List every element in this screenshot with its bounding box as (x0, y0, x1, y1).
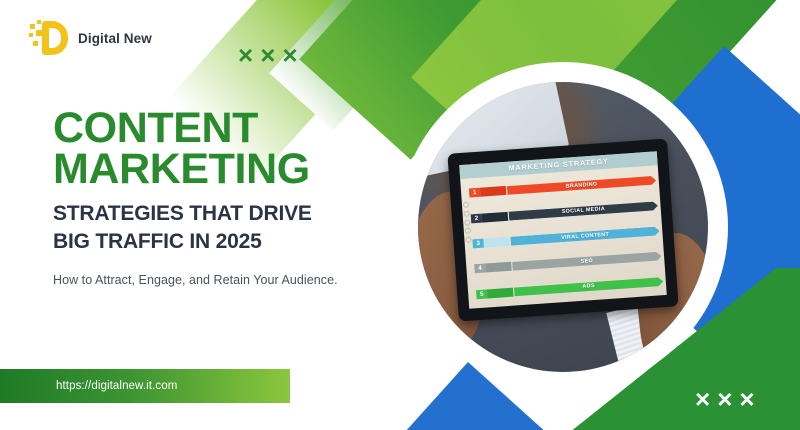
thumbs-up-icon (463, 210, 469, 216)
gear-icon (463, 202, 469, 208)
cross-icon: × (717, 386, 732, 412)
website-url-bar[interactable]: https://digitalnew.it.com (0, 369, 290, 403)
logo-pixel (33, 41, 38, 46)
strategy-number: 4 (474, 264, 486, 274)
page-title: CONTENT MARKETING (53, 108, 393, 191)
cross-icon: × (695, 386, 710, 412)
strategy-block (487, 287, 514, 298)
logo-pixel (37, 20, 41, 24)
logo-pixel (30, 24, 35, 29)
strategy-block (480, 186, 507, 197)
subheadline-line-1: STRATEGIES THAT DRIVE (53, 202, 312, 225)
marketing-banner: MARKETING STRATEGY 1 BRANDING 2 SOCIAL M… (0, 0, 800, 430)
strategy-number: 1 (469, 188, 481, 198)
headline-line-2: MARKETING (53, 149, 393, 190)
strategy-label: VIRAL CONTENT (510, 226, 660, 245)
strategy-number: 2 (470, 213, 482, 223)
strategy-block (481, 211, 508, 222)
subheadline-line-2: BIG TRAFFIC IN 2025 (53, 228, 393, 256)
tablet-device: MARKETING STRATEGY 1 BRANDING 2 SOCIAL M… (447, 138, 679, 321)
strategy-number: 5 (476, 289, 488, 299)
strategy-label: SOCIAL MEDIA (508, 201, 658, 220)
website-url[interactable]: https://digitalnew.it.com (56, 380, 177, 392)
strategy-label: ADS (514, 277, 664, 296)
tag-icon (465, 236, 471, 242)
strategy-number: 3 (472, 238, 484, 248)
cross-icon: × (238, 42, 253, 68)
marketing-strategy-rows: 1 BRANDING 2 SOCIAL MEDIA 3 VIRAL CONTEN… (460, 165, 667, 309)
globe-icon (464, 227, 470, 233)
cross-decor-bottom: × × × (695, 386, 755, 412)
pixel-d-logo-icon (28, 18, 70, 58)
brand-name: Digital New (78, 31, 152, 46)
cross-decor-top: × × × (238, 42, 298, 68)
brand-logo[interactable]: Digital New (28, 18, 152, 58)
tagline: How to Attract, Engage, and Retain Your … (53, 273, 393, 287)
cross-icon: × (282, 42, 297, 68)
blue-parallelogram-bottom (374, 362, 603, 430)
logo-pixel (29, 33, 33, 37)
target-icon (464, 219, 470, 225)
tablet-screen: MARKETING STRATEGY 1 BRANDING 2 SOCIAL M… (459, 151, 667, 309)
cross-icon: × (739, 386, 754, 412)
hero-photo-circle: MARKETING STRATEGY 1 BRANDING 2 SOCIAL M… (418, 82, 708, 372)
strategy-label: SEO (512, 251, 662, 270)
headline-block: CONTENT MARKETING STRATEGIES THAT DRIVE … (53, 108, 393, 287)
strategy-label: BRANDING (507, 176, 657, 195)
strategy-block (483, 237, 510, 248)
strategy-block (485, 262, 512, 273)
subheadline: STRATEGIES THAT DRIVE BIG TRAFFIC IN 202… (53, 200, 393, 256)
cross-icon: × (260, 42, 275, 68)
logo-letter-d (42, 21, 68, 55)
